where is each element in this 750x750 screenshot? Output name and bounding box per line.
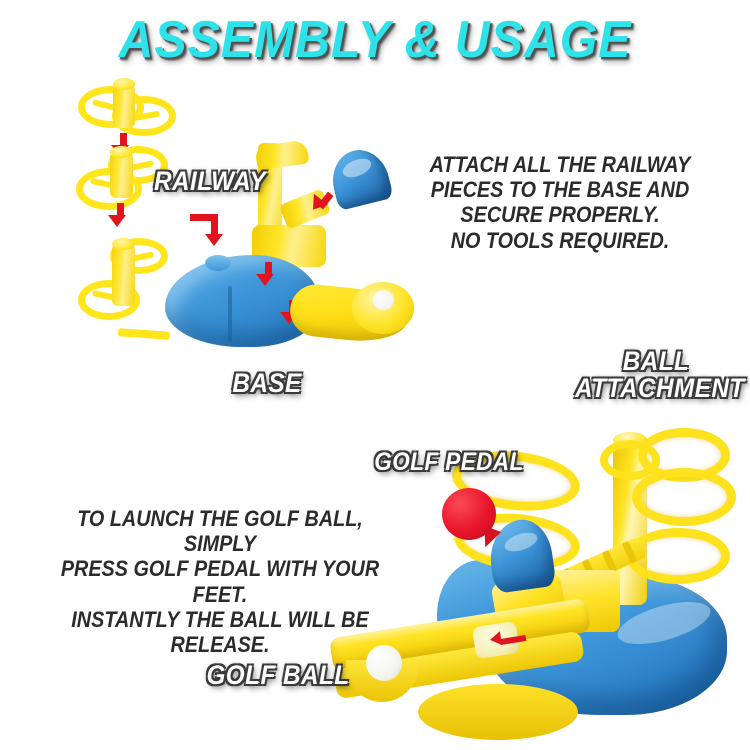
instruction-text-usage: TO LAUNCH THE GOLF BALL, SIMPLY PRESS GO…: [42, 506, 398, 657]
ramp-rung: [622, 541, 637, 564]
arrow-shaft: [211, 214, 218, 236]
railway-spiral-cap: [600, 440, 660, 480]
railway-hub: [113, 84, 135, 128]
arrow-head: [256, 274, 274, 286]
arrow-head: [205, 234, 223, 246]
railway-hub: [112, 244, 135, 306]
railway-hub-top: [113, 78, 135, 90]
infographic-page: ASSEMBLY & USAGE: [0, 0, 750, 750]
label-ball-attachment: BALL ATTACHMENT: [575, 348, 737, 402]
label-base: BASE: [218, 370, 317, 397]
arrow-head: [489, 631, 502, 647]
railway-hub-top: [112, 238, 135, 250]
page-title: ASSEMBLY & USAGE: [26, 10, 724, 70]
golf-pedal-marker: [442, 488, 496, 540]
label-railway: RAILWAY: [147, 168, 273, 195]
base-nub: [205, 255, 231, 271]
golf-ball: [373, 290, 394, 310]
base-seam: [228, 286, 232, 342]
label-golf-pedal: GOLF PEDAL: [373, 450, 526, 475]
golf-pedal-piece: [326, 144, 394, 211]
railway-spiral-turn: [632, 468, 736, 526]
arrow-head: [108, 215, 126, 227]
instruction-text-assembly: ATTACH ALL THE RAILWAY PIECES TO THE BAS…: [428, 152, 692, 253]
railway-hub-top: [110, 146, 133, 158]
launcher-foot-ring: [418, 684, 578, 740]
railway-foot: [118, 328, 170, 340]
railway-hub: [110, 152, 133, 198]
label-golf-ball: GOLF BALL: [206, 662, 350, 689]
